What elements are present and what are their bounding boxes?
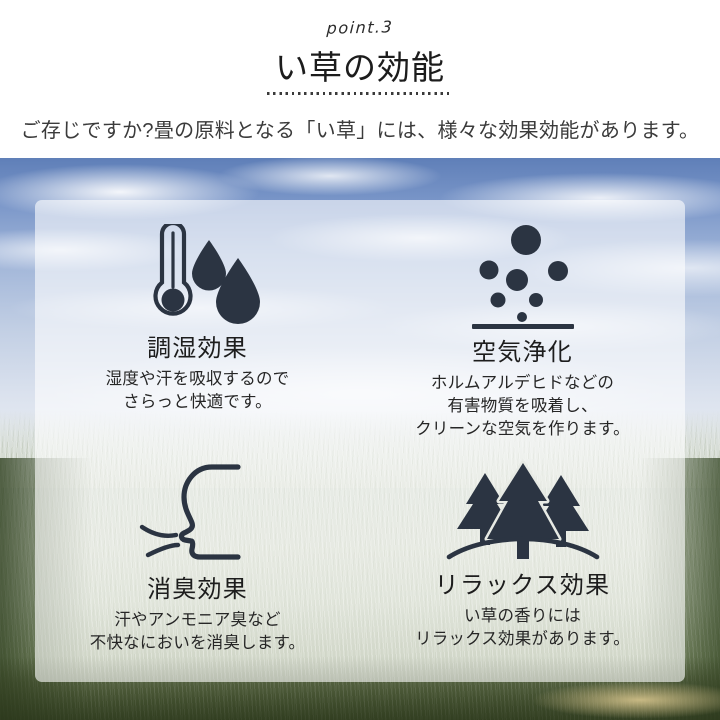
air-particles-icon	[460, 220, 586, 332]
benefit-description: ホルムアルデヒドなどの 有害物質を吸着し、 クリーンな空気を作ります。	[415, 372, 630, 441]
benefit-title: 消臭効果	[147, 575, 248, 605]
benefit-description-line: ホルムアルデヒドなどの	[415, 372, 630, 395]
benefit-title: リラックス効果	[435, 571, 611, 601]
face-profile-smell-icon	[134, 457, 262, 569]
thermometer-waterdrops-icon	[132, 220, 264, 328]
benefit-description-line: リラックス効果があります。	[415, 628, 630, 651]
benefit-title: 空気浄化	[472, 338, 573, 368]
page-root: point.3 い草の効能 ご存じですか?畳の原料となる「い草」には、様々な効果…	[0, 0, 720, 720]
benefit-description-line: 不快なにおいを消臭します。	[90, 632, 305, 655]
benefit-description-line: い草の香りには	[415, 605, 630, 628]
benefit-description: 湿度や汗を吸収するので さらっと快適です。	[106, 368, 290, 414]
benefit-description-line: 有害物質を吸着し、	[415, 395, 630, 418]
header: point.3 い草の効能 ご存じですか?畳の原料となる「い草」には、様々な効果…	[0, 0, 720, 158]
benefits-grid: 調湿効果 湿度や汗を吸収するので さらっと快適です。 空	[35, 200, 685, 682]
point-label: point.3	[0, 10, 720, 44]
benefit-description-line: クリーンな空気を作ります。	[415, 418, 630, 441]
page-title: い草の効能	[0, 48, 720, 88]
benefit-description-line: さらっと快適です。	[106, 391, 290, 414]
title-dotted-divider	[267, 92, 453, 95]
benefit-description: 汗やアンモニア臭など 不快なにおいを消臭します。	[90, 609, 305, 655]
benefit-card-relaxation[interactable]: リラックス効果 い草の香りには リラックス効果があります。	[360, 441, 685, 682]
benefit-description: い草の香りには リラックス効果があります。	[415, 605, 630, 651]
page-subtitle: ご存じですか?畳の原料となる「い草」には、様々な効果効能があります。	[0, 114, 720, 143]
benefit-card-humidity[interactable]: 調湿効果 湿度や汗を吸収するので さらっと快適です。	[35, 200, 360, 441]
benefit-card-air-purification[interactable]: 空気浄化 ホルムアルデヒドなどの 有害物質を吸着し、 クリーンな空気を作ります。	[360, 200, 685, 441]
benefit-description-line: 湿度や汗を吸収するので	[106, 368, 290, 391]
benefit-card-deodorizing[interactable]: 消臭効果 汗やアンモニア臭など 不快なにおいを消臭します。	[35, 441, 360, 682]
pine-trees-hill-icon	[443, 457, 603, 565]
benefit-description-line: 汗やアンモニア臭など	[90, 609, 305, 632]
benefit-title: 調湿効果	[147, 334, 248, 364]
